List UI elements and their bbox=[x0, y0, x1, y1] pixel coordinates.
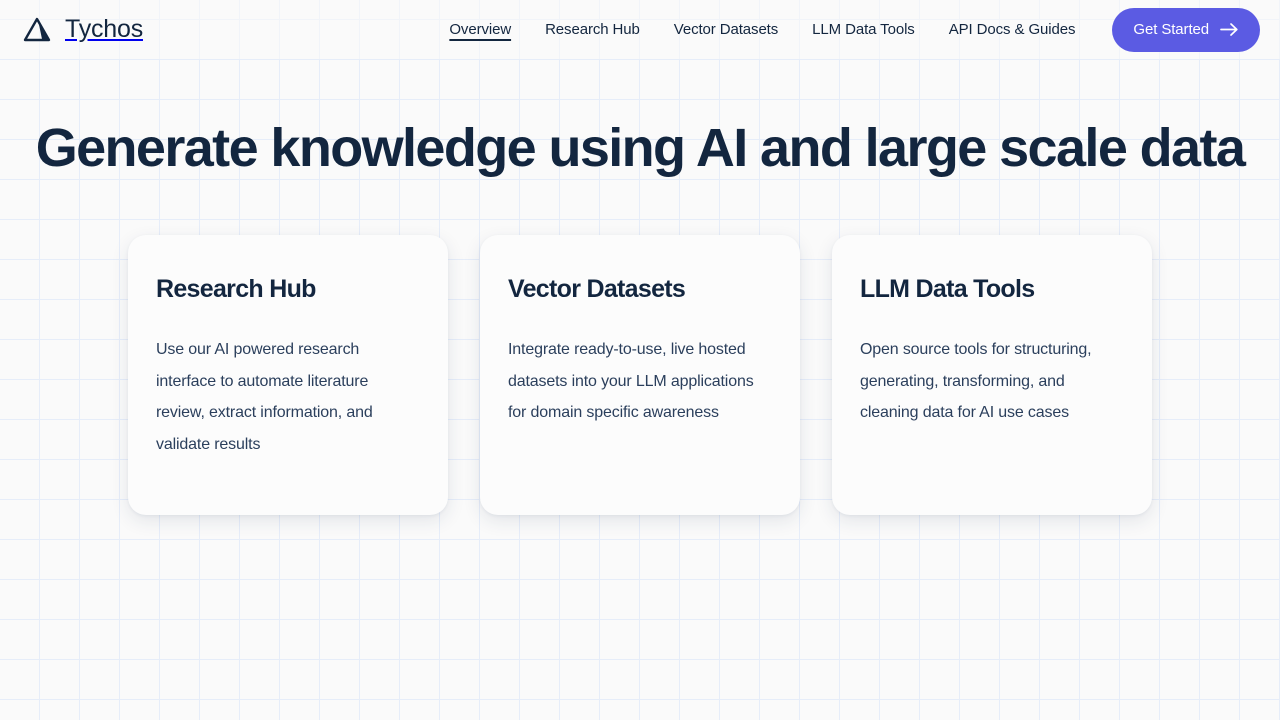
card-description: Integrate ready-to-use, live hosted data… bbox=[508, 334, 772, 429]
nav-item-research-hub[interactable]: Research Hub bbox=[528, 20, 657, 40]
feature-card-llm-data-tools[interactable]: LLM Data Tools Open source tools for str… bbox=[832, 235, 1152, 515]
primary-nav: Overview Research Hub Vector Datasets LL… bbox=[432, 8, 1260, 52]
card-description: Use our AI powered research interface to… bbox=[156, 334, 420, 460]
feature-card-vector-datasets[interactable]: Vector Datasets Integrate ready-to-use, … bbox=[480, 235, 800, 515]
nav-item-llm-data-tools[interactable]: LLM Data Tools bbox=[795, 20, 932, 40]
card-title: Vector Datasets bbox=[508, 273, 772, 305]
card-title: Research Hub bbox=[156, 273, 420, 305]
nav-item-api-docs-guides[interactable]: API Docs & Guides bbox=[932, 20, 1093, 40]
brand-name: Tychos bbox=[65, 15, 143, 44]
get-started-label: Get Started bbox=[1133, 21, 1209, 38]
nav-item-vector-datasets[interactable]: Vector Datasets bbox=[657, 20, 795, 40]
triangle-logo-icon bbox=[20, 13, 54, 47]
site-header: Tychos Overview Research Hub Vector Data… bbox=[0, 0, 1280, 60]
feature-cards: Research Hub Use our AI powered research… bbox=[0, 235, 1280, 515]
hero-section: Generate knowledge using AI and large sc… bbox=[0, 60, 1280, 178]
arrow-right-icon bbox=[1220, 22, 1239, 37]
card-description: Open source tools for structuring, gener… bbox=[860, 334, 1124, 429]
card-title: LLM Data Tools bbox=[860, 273, 1124, 305]
feature-card-research-hub[interactable]: Research Hub Use our AI powered research… bbox=[128, 235, 448, 515]
get-started-button[interactable]: Get Started bbox=[1112, 8, 1260, 52]
page-root: Tychos Overview Research Hub Vector Data… bbox=[0, 0, 1280, 720]
page-title: Generate knowledge using AI and large sc… bbox=[0, 118, 1280, 178]
brand-logo-link[interactable]: Tychos bbox=[20, 13, 143, 47]
nav-item-overview[interactable]: Overview bbox=[432, 20, 528, 40]
